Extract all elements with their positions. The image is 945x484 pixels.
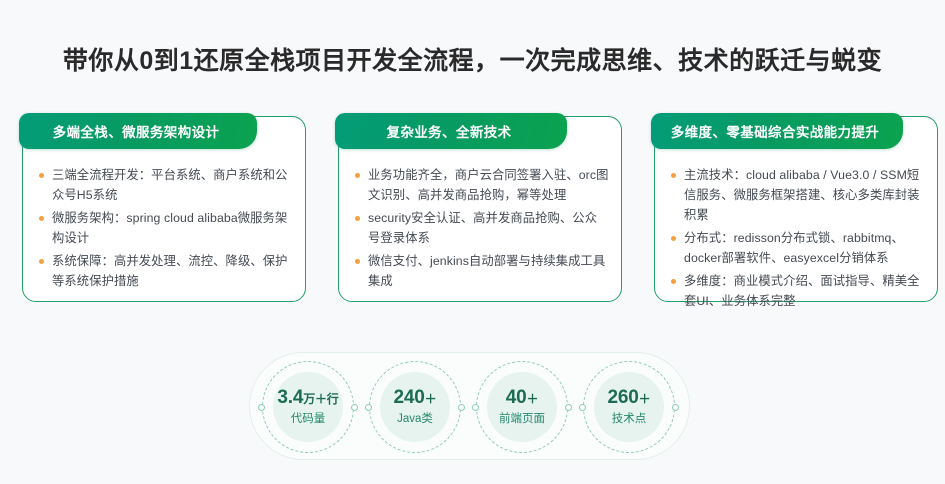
stat-label: 前端页面 <box>499 412 545 427</box>
stat-value-main: 3.4 <box>277 387 303 408</box>
card-body-2: 业务功能齐全，商户云合同签署入驻、orc图文识别、高并发商品抢购，幂等处理 se… <box>353 165 609 294</box>
stat-value-unit: ＋ <box>526 392 538 406</box>
stat-item-code-lines: 3.4万＋行 代码量 <box>262 361 354 453</box>
bullet-list-3: 主流技术：cloud alibaba / Vue3.0 / SSM短信服务、微服… <box>669 165 925 311</box>
card-body-1: 三端全流程开发：平台系统、商户系统和公众号H5系统 微服务架构：spring c… <box>37 165 293 294</box>
list-item: 微服务架构：spring cloud alibaba微服务架构设计 <box>37 208 293 248</box>
card-body-3: 主流技术：cloud alibaba / Vue3.0 / SSM短信服务、微服… <box>669 165 925 314</box>
feature-card-1: 多端全栈、微服务架构设计 三端全流程开发：平台系统、商户系统和公众号H5系统 微… <box>22 116 306 302</box>
ring-marker-left-icon <box>472 404 479 411</box>
stat-value-unit: 万＋行 <box>303 392 338 406</box>
page-title: 带你从0到1还原全栈项目开发全流程，一次完成思维、技术的跃迁与蜕变 <box>0 44 945 78</box>
feature-cards: 多端全栈、微服务架构设计 三端全流程开发：平台系统、商户系统和公众号H5系统 微… <box>22 116 938 302</box>
list-item: 业务功能齐全，商户云合同签署入驻、orc图文识别、高并发商品抢购，幂等处理 <box>353 165 609 205</box>
stat-value: 240＋ <box>394 387 437 410</box>
card-header-3: 多维度、零基础综合实战能力提升 <box>651 113 903 149</box>
feature-card-3: 多维度、零基础综合实战能力提升 主流技术：cloud alibaba / Vue… <box>654 116 938 302</box>
stat-circle: 240＋ Java类 <box>380 372 450 442</box>
stat-label: 技术点 <box>612 412 647 427</box>
stat-value-unit: ＋ <box>639 392 651 406</box>
promo-page: 带你从0到1还原全栈项目开发全流程，一次完成思维、技术的跃迁与蜕变 多端全栈、微… <box>0 0 945 484</box>
list-item: 系统保障：高并发处理、流控、降级、保护等系统保护措施 <box>37 251 293 291</box>
ring-marker-right-icon <box>672 404 679 411</box>
stat-circle: 40＋ 前端页面 <box>487 372 557 442</box>
card-header-2: 复杂业务、全新技术 <box>335 113 567 149</box>
stat-value-main: 260 <box>608 387 639 408</box>
ring-marker-right-icon <box>351 404 358 411</box>
stat-item-java-classes: 240＋ Java类 <box>369 361 461 453</box>
list-item: 三端全流程开发：平台系统、商户系统和公众号H5系统 <box>37 165 293 205</box>
stat-value-unit: ＋ <box>425 392 437 406</box>
ring-marker-left-icon <box>258 404 265 411</box>
stat-value-main: 40 <box>506 387 527 408</box>
ring-marker-right-icon <box>458 404 465 411</box>
ring-marker-left-icon <box>365 404 372 411</box>
list-item: 分布式：redisson分布式锁、rabbitmq、docker部署软件、eas… <box>669 228 925 268</box>
bullet-list-1: 三端全流程开发：平台系统、商户系统和公众号H5系统 微服务架构：spring c… <box>37 165 293 291</box>
stat-item-frontend-pages: 40＋ 前端页面 <box>476 361 568 453</box>
stat-value: 3.4万＋行 <box>277 387 338 410</box>
stat-value-main: 240 <box>394 387 425 408</box>
stats-panel: 3.4万＋行 代码量 240＋ Java类 40＋ 前端页面 <box>249 352 690 460</box>
list-item: 主流技术：cloud alibaba / Vue3.0 / SSM短信服务、微服… <box>669 165 925 225</box>
list-item: security安全认证、高并发商品抢购、公众号登录体系 <box>353 208 609 248</box>
stat-label: Java类 <box>397 412 433 427</box>
bullet-list-2: 业务功能齐全，商户云合同签署入驻、orc图文识别、高并发商品抢购，幂等处理 se… <box>353 165 609 291</box>
ring-marker-right-icon <box>565 404 572 411</box>
card-header-1: 多端全栈、微服务架构设计 <box>19 113 257 149</box>
list-item: 多维度：商业模式介绍、面试指导、精美全套UI、业务体系完整 <box>669 271 925 311</box>
feature-card-2: 复杂业务、全新技术 业务功能齐全，商户云合同签署入驻、orc图文识别、高并发商品… <box>338 116 622 302</box>
ring-marker-left-icon <box>579 404 586 411</box>
stat-item-tech-points: 260＋ 技术点 <box>583 361 675 453</box>
stat-value: 260＋ <box>608 387 651 410</box>
stat-value: 40＋ <box>506 387 539 410</box>
stat-label: 代码量 <box>291 412 326 427</box>
stat-circle: 3.4万＋行 代码量 <box>273 372 343 442</box>
stat-circle: 260＋ 技术点 <box>594 372 664 442</box>
list-item: 微信支付、jenkins自动部署与持续集成工具集成 <box>353 251 609 291</box>
